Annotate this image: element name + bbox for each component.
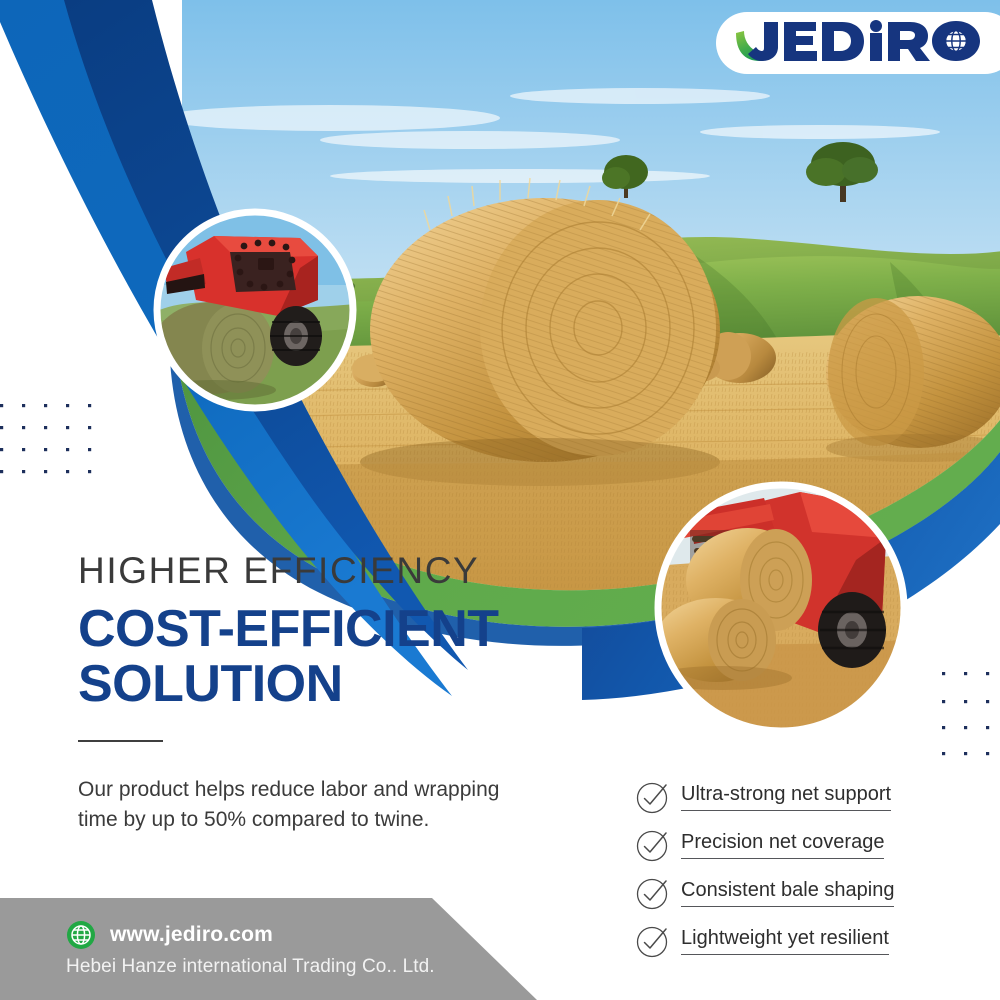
feature-item: Ultra-strong net support <box>634 778 934 816</box>
feature-item: Precision net coverage <box>634 826 934 864</box>
feature-label-wrap: Precision net coverage <box>681 831 884 859</box>
check-circle-icon <box>634 826 672 864</box>
footer-url-text[interactable]: www.jediro.com <box>110 923 273 947</box>
dot-grid-left <box>0 404 91 473</box>
headline-line-1: COST-EFFICIENT <box>78 602 598 657</box>
check-circle-icon <box>634 922 672 960</box>
marketing-poster: HIGHER EFFICIENCY COST-EFFICIENT SOLUTIO… <box>0 0 1000 1000</box>
divider-rule <box>78 740 163 742</box>
feature-label: Ultra-strong net support <box>681 783 891 806</box>
footer-url-row[interactable]: www.jediro.com <box>66 920 435 950</box>
check-circle-icon <box>634 778 672 816</box>
feature-label-wrap: Consistent bale shaping <box>681 879 894 907</box>
headline-line-2: SOLUTION <box>78 657 598 712</box>
feature-item: Consistent bale shaping <box>634 874 934 912</box>
body-paragraph: Our product helps reduce labor and wrapp… <box>78 775 508 835</box>
footer-company-text: Hebei Hanze international Trading Co.. L… <box>66 956 435 978</box>
feature-label-wrap: Ultra-strong net support <box>681 783 891 811</box>
footer-content: www.jediro.com Hebei Hanze international… <box>66 920 435 978</box>
globe-icon <box>66 920 96 950</box>
feature-item: Lightweight yet resilient <box>634 922 934 960</box>
feature-label: Precision net coverage <box>681 831 884 854</box>
feature-label-wrap: Lightweight yet resilient <box>681 927 889 955</box>
logo-wordmark <box>734 19 1000 67</box>
check-circle-icon <box>634 874 672 912</box>
feature-list: Ultra-strong net support Precision net c… <box>634 778 934 960</box>
brand-logo[interactable] <box>716 12 1000 74</box>
feature-label: Lightweight yet resilient <box>681 927 889 950</box>
inset-photo-top <box>152 210 355 410</box>
headline-block: HIGHER EFFICIENCY COST-EFFICIENT SOLUTIO… <box>78 552 598 742</box>
globe-icon <box>946 31 967 52</box>
dot-grid-right <box>942 672 989 755</box>
feature-label: Consistent bale shaping <box>681 879 894 902</box>
eyebrow-text: HIGHER EFFICIENCY <box>78 552 598 591</box>
